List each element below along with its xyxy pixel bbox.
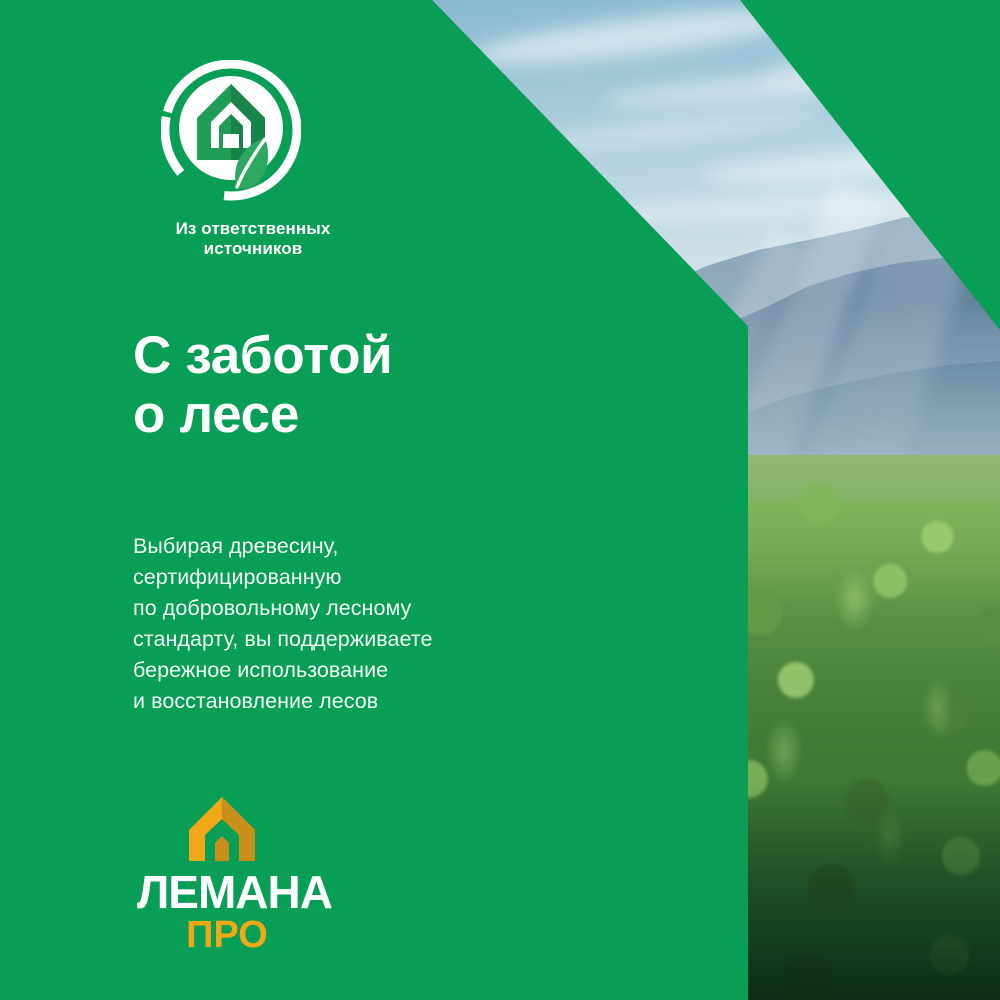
badge-caption-line-1: Из ответственных <box>133 219 373 239</box>
poster-root: Из ответственных источников С заботой о … <box>0 0 1000 1000</box>
page-title: С заботой о лесе <box>133 326 392 445</box>
brand-suffix: ПРО <box>137 916 317 954</box>
lemana-house-icon <box>187 795 257 863</box>
content-column: Из ответственных источников С заботой о … <box>0 0 760 1000</box>
body-paragraph: Выбирая древесину, сертифицированную по … <box>133 531 432 717</box>
badge-caption-line-2: источников <box>133 239 373 259</box>
badge-caption: Из ответственных источников <box>133 219 373 259</box>
responsible-sources-icon <box>161 60 301 205</box>
brand-logo: ЛЕМАНА ПРО <box>137 795 317 954</box>
responsible-sources-badge: Из ответственных источников <box>133 60 373 259</box>
brand-name: ЛЕМАНА <box>137 869 317 915</box>
